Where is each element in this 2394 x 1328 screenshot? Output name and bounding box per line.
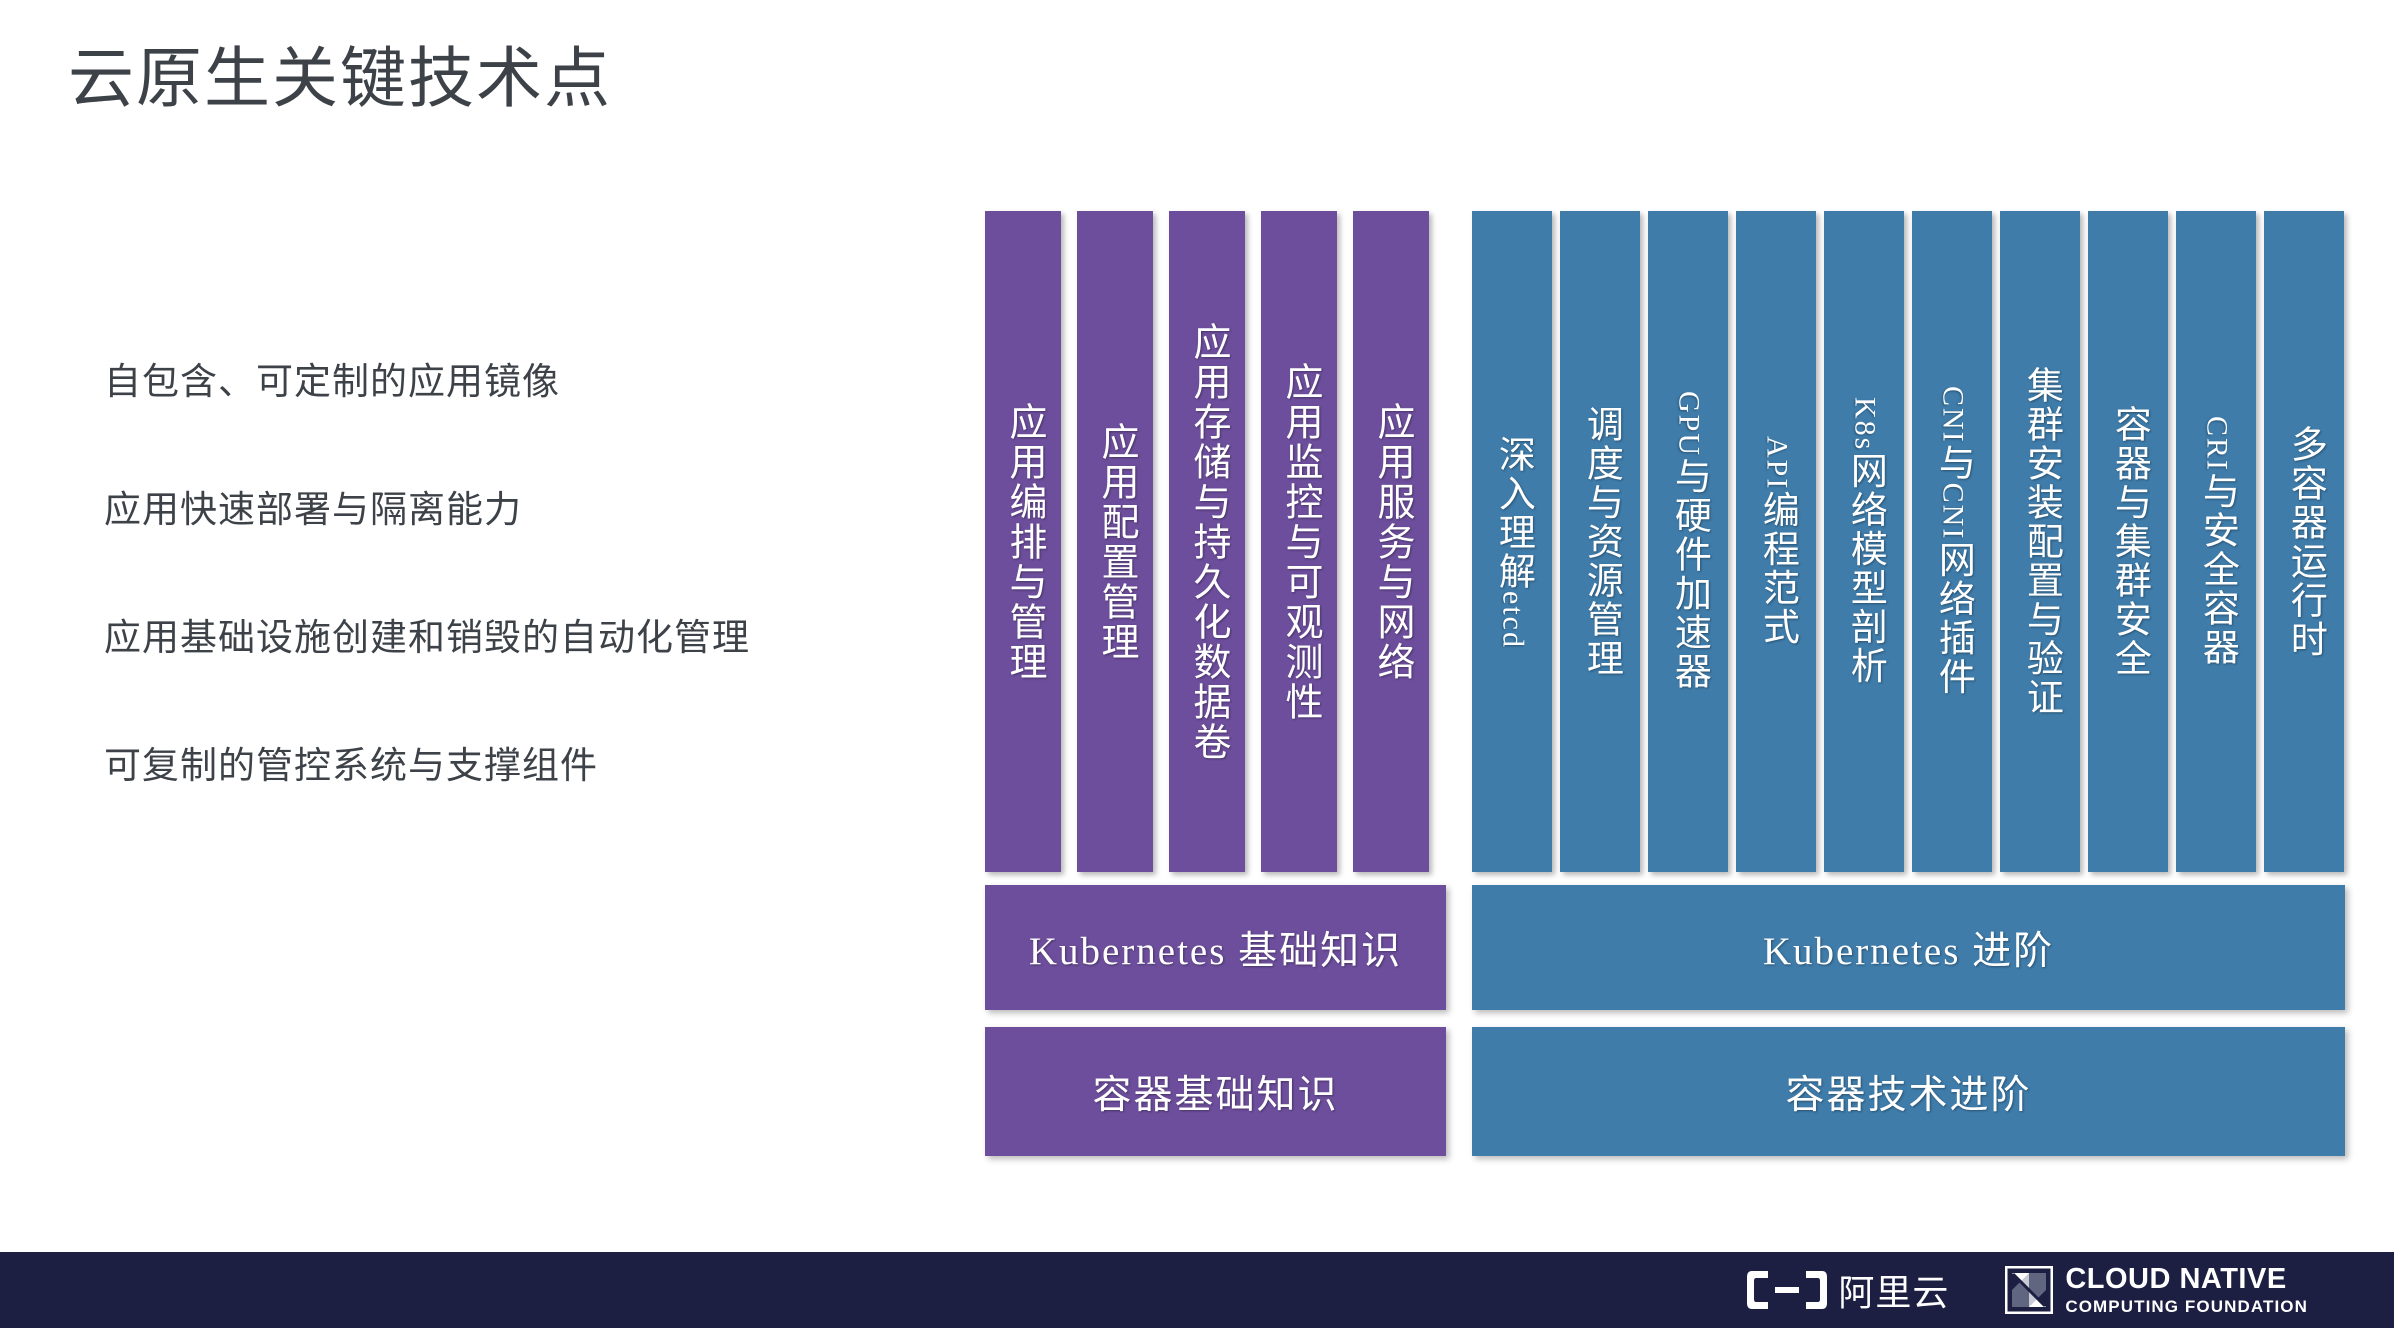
- blue-column-label: 多容器运行时: [2285, 425, 2324, 659]
- blue-column-label-latin: CRI: [2200, 416, 2233, 472]
- blue-column-label-cjk: 网络模型剖析: [1844, 452, 1885, 686]
- blue-column-label: API编程范式: [1757, 436, 1796, 646]
- purple-column-label: 应用编排与管理: [1003, 402, 1043, 682]
- blue-column-label-latin-mid: CNI: [1936, 483, 1969, 541]
- blue-column-etcd: 深入理解etcd: [1472, 211, 1552, 872]
- alibaba-cloud-bracket-icon: [1746, 1269, 1828, 1311]
- bar-container-basics: 容器基础知识: [985, 1027, 1446, 1156]
- bar-kubernetes-basics: Kubernetes 基础知识: [985, 885, 1446, 1010]
- blue-column-label-cjk: 与: [1932, 444, 1973, 483]
- blue-column-multi-runtime: 多容器运行时: [2264, 211, 2344, 872]
- blue-column-label-latin: K8s: [1848, 397, 1881, 451]
- bar-label: 容器技术进阶: [1785, 1064, 2031, 1120]
- bullet-list: 自包含、可定制的应用镜像 应用快速部署与隔离能力 应用基础设施创建和销毁的自动化…: [104, 360, 924, 872]
- logo-group: 阿里云 CLOUD NATIVE COMPUTING FOUNDATION: [1746, 1264, 2308, 1316]
- list-item: 应用基础设施创建和销毁的自动化管理: [104, 616, 924, 744]
- list-item: 可复制的管控系统与支撑组件: [104, 744, 924, 872]
- blue-column-label: 容器与集群安全: [2109, 405, 2148, 678]
- bullet-text: 自包含、可定制的应用镜像: [104, 360, 560, 404]
- purple-column-app-config: 应用配置管理: [1077, 211, 1153, 872]
- blue-column-label-cjk: 与硬件加速器: [1668, 458, 1709, 692]
- bar-label: 容器基础知识: [1092, 1064, 1338, 1120]
- alibaba-cloud-logo: 阿里云: [1746, 1264, 1949, 1316]
- list-item: 应用快速部署与隔离能力: [104, 488, 924, 616]
- blue-column-label: CNI与CNI网络插件: [1933, 386, 1972, 696]
- purple-column-label: 应用服务与网络: [1371, 402, 1411, 682]
- technology-stack-diagram: 应用编排与管理 应用配置管理 应用存储与持久化数据卷 应用监控与可观测性 应用服…: [985, 211, 2345, 1157]
- blue-column-label: 集群安装配置与验证: [2021, 366, 2060, 717]
- bullet-text: 可复制的管控系统与支撑组件: [104, 744, 598, 788]
- cncf-subtitle: COMPUTING FOUNDATION: [2065, 1298, 2308, 1315]
- page-title: 云原生关键技术点: [68, 42, 612, 115]
- blue-column-label: 深入理解etcd: [1493, 435, 1532, 649]
- blue-column-label-cjk: 深入理解: [1492, 435, 1533, 591]
- blue-column-label-cjk2: 网络插件: [1932, 541, 1973, 697]
- purple-column-label: 应用监控与可观测性: [1279, 362, 1319, 722]
- bullet-text: 应用基础设施创建和销毁的自动化管理: [104, 616, 750, 660]
- blue-column-label: K8s网络模型剖析: [1845, 397, 1884, 685]
- blue-column-label-latin: CNI: [1936, 386, 1969, 444]
- blue-column-label: GPU与硬件加速器: [1669, 391, 1708, 691]
- blue-column-label: CRI与安全容器: [2197, 416, 2236, 667]
- purple-column-label: 应用配置管理: [1095, 422, 1135, 662]
- blue-column-label-latin: GPU: [1672, 391, 1705, 457]
- bar-container-advanced: 容器技术进阶: [1472, 1027, 2345, 1156]
- alibaba-cloud-wordmark: 阿里云: [1838, 1264, 1949, 1316]
- blue-column-label: 调度与资源管理: [1581, 405, 1620, 678]
- blue-column-scheduling: 调度与资源管理: [1560, 211, 1640, 872]
- blue-column-label-cjk: 编程范式: [1756, 491, 1797, 647]
- cncf-title: CLOUD NATIVE: [2065, 1265, 2308, 1294]
- purple-column-label: 应用存储与持久化数据卷: [1187, 322, 1227, 762]
- list-item: 自包含、可定制的应用镜像: [104, 360, 924, 488]
- cncf-logo: CLOUD NATIVE COMPUTING FOUNDATION: [2005, 1265, 2308, 1315]
- bar-label: Kubernetes 基础知识: [1029, 920, 1402, 976]
- purple-column-app-monitoring: 应用监控与可观测性: [1261, 211, 1337, 872]
- purple-column-group: 应用编排与管理 应用配置管理 应用存储与持久化数据卷 应用监控与可观测性 应用服…: [985, 211, 1429, 872]
- footer-bar: 阿里云 CLOUD NATIVE COMPUTING FOUNDATION: [0, 1252, 2394, 1328]
- bar-kubernetes-advanced: Kubernetes 进阶: [1472, 885, 2345, 1010]
- blue-column-container-security: 容器与集群安全: [2088, 211, 2168, 872]
- blue-column-gpu: GPU与硬件加速器: [1648, 211, 1728, 872]
- bar-label: Kubernetes 进阶: [1763, 920, 2054, 976]
- blue-column-api: API编程范式: [1736, 211, 1816, 872]
- cncf-wordmark: CLOUD NATIVE COMPUTING FOUNDATION: [2065, 1265, 2308, 1315]
- cncf-mark-icon: [2005, 1266, 2053, 1314]
- blue-column-label-cjk: 与安全容器: [2196, 472, 2237, 667]
- blue-column-label-latin: API: [1760, 436, 1793, 490]
- blue-column-cri: CRI与安全容器: [2176, 211, 2256, 872]
- blue-column-cluster-install: 集群安装配置与验证: [2000, 211, 2080, 872]
- blue-column-group: 深入理解etcd 调度与资源管理 GPU与硬件加速器 API编程范式 K8s网络…: [1472, 211, 2344, 872]
- purple-column-app-orchestration: 应用编排与管理: [985, 211, 1061, 872]
- purple-column-app-service-network: 应用服务与网络: [1353, 211, 1429, 872]
- bullet-text: 应用快速部署与隔离能力: [104, 488, 522, 532]
- blue-column-k8s-network: K8s网络模型剖析: [1824, 211, 1904, 872]
- blue-column-cni: CNI与CNI网络插件: [1912, 211, 1992, 872]
- blue-column-label-latin: etcd: [1496, 591, 1529, 649]
- purple-column-app-storage: 应用存储与持久化数据卷: [1169, 211, 1245, 872]
